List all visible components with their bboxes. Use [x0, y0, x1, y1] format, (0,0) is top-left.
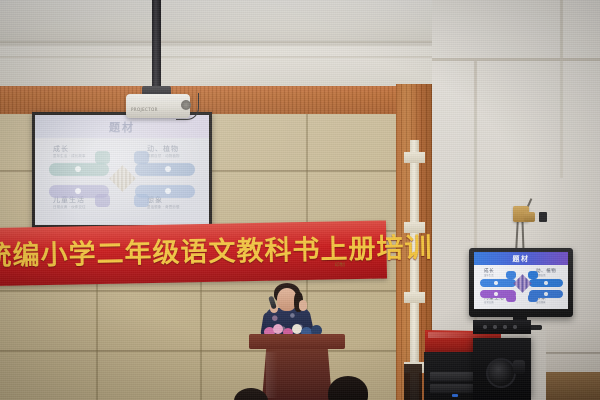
slide-quadrant-sub-3: 日常点滴 · 伙伴交往 — [53, 205, 119, 210]
photo-scene: 题材 成长 童年生活 · 成长故事 动、植物 观察自然 · 动物植物 儿童生活 … — [0, 0, 600, 400]
tv-quadrant-sub-1: 童年生活 — [484, 274, 494, 278]
amplifier — [473, 320, 531, 334]
column-cross-arm — [404, 292, 425, 303]
tv-stub-2 — [528, 271, 538, 279]
wall-junction-box-secondary — [524, 212, 535, 222]
tv-icon-3 — [494, 292, 498, 296]
amp-knob[interactable] — [503, 325, 507, 329]
slide-quadrant-sub-2: 观察自然 · 动物植物 — [147, 154, 205, 159]
tv-stub-3 — [506, 294, 516, 302]
panel-seam — [0, 350, 396, 352]
speaker-tweeter-icon — [513, 360, 525, 374]
right-wall-trim-lower — [560, 58, 563, 178]
slide-stub-3 — [95, 194, 110, 207]
speaker-right-hand — [299, 300, 307, 311]
wall-outlet[interactable] — [539, 212, 547, 222]
tv-screen: 题材 成长 童年生活 动、植物 观察自然 儿童生活 日常点滴 想象 童话想象 — [474, 252, 568, 309]
projection-screen: 题材 成长 童年生活 · 成长故事 动、植物 观察自然 · 动物植物 儿童生活 … — [35, 115, 209, 225]
slide-icon-1 — [75, 166, 81, 172]
tv-slide-title: 题材 — [474, 254, 568, 264]
slide-icon-2 — [165, 166, 171, 172]
slide-quadrant-sub-4: 童话想象 · 奇思妙想 — [147, 205, 205, 210]
cabinet-seam — [546, 352, 600, 354]
amp-knob[interactable] — [513, 325, 517, 329]
slide-quadrant-label-1: 成长 — [53, 144, 69, 154]
upper-wall-trim — [0, 56, 470, 58]
power-led-icon — [452, 394, 458, 397]
tv-quadrant-sub-3: 日常点滴 — [484, 301, 494, 305]
tv-bar-1 — [480, 279, 516, 287]
slide-icon-3 — [75, 188, 81, 194]
decor-cross-column — [404, 140, 424, 400]
banner-text: 统编小学二年级语文教科书上册培训 — [0, 227, 385, 274]
speaker-woofer-icon — [486, 358, 516, 388]
column-cross-arm — [404, 222, 425, 233]
banner-tail-mark: 印制 — [335, 261, 345, 268]
tv-icon-1 — [494, 281, 498, 285]
floor-strip — [546, 372, 600, 400]
slide-title: 题材 — [35, 119, 209, 135]
tv-icon-2 — [544, 281, 548, 285]
tv-icon-4 — [544, 292, 548, 296]
tv-stub-1 — [506, 271, 516, 279]
tv-stub-4 — [528, 294, 538, 302]
amp-knob[interactable] — [493, 325, 497, 329]
slide-icon-4 — [165, 188, 171, 194]
tv-quadrant-sub-4: 童话想象 — [536, 301, 546, 305]
slide-quadrant-label-2: 动、植物 — [147, 144, 179, 154]
slide-stub-2 — [134, 151, 149, 164]
diamond-icon — [109, 165, 136, 192]
projector-label: PROJECTOR — [131, 107, 158, 112]
projector-cable — [176, 93, 199, 120]
podium-highlight — [266, 352, 278, 398]
right-wall-trim-upper — [560, 0, 563, 58]
right-wall-trim-horizontal — [432, 58, 600, 61]
column-stem — [410, 140, 419, 400]
slide-stub-1 — [95, 151, 110, 164]
panel-seam — [0, 290, 396, 292]
amp-knob[interactable] — [483, 325, 487, 329]
projector-pole — [152, 0, 161, 88]
red-banner: 统编小学二年级语文教科书上册培训 印制 — [0, 220, 387, 286]
foreground-post — [404, 364, 422, 400]
slide-stub-4 — [134, 194, 149, 207]
flower — [273, 324, 283, 334]
column-cross-arm — [404, 152, 425, 163]
wood-band — [0, 86, 432, 114]
podium-top — [249, 334, 345, 349]
